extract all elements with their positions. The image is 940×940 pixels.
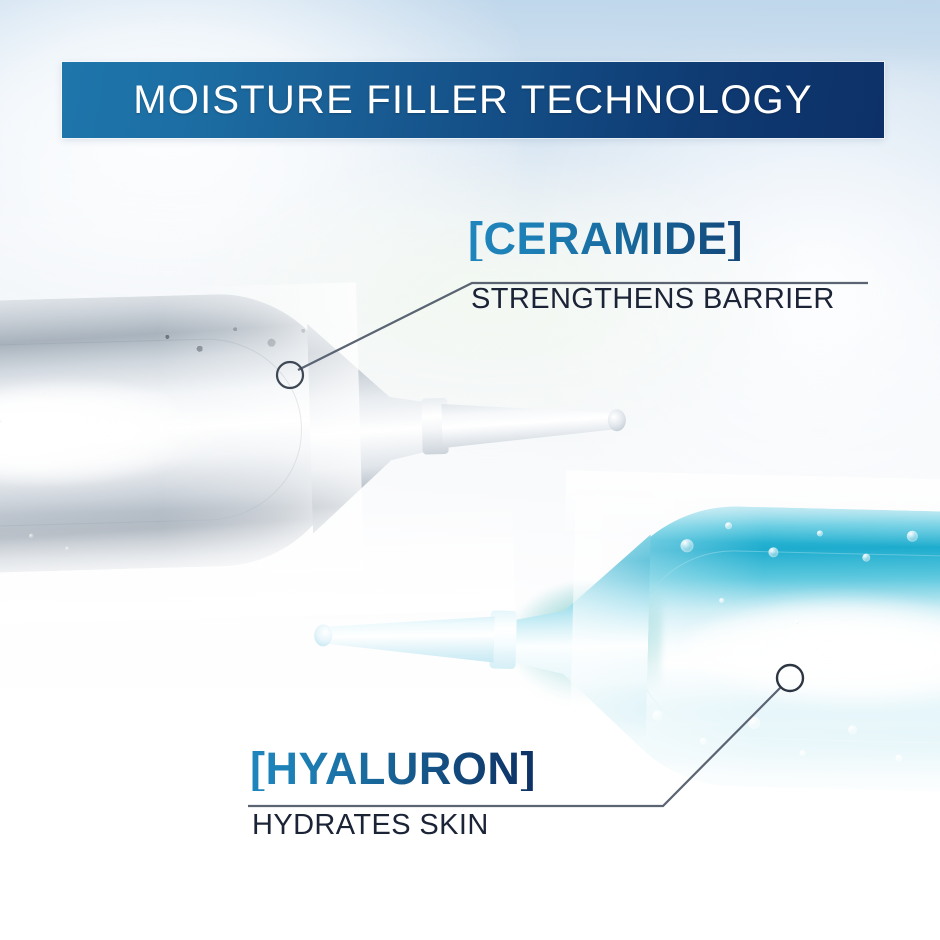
hyaluron-tag-label: [HYALURON] (250, 746, 536, 791)
clear-ampoule-neck (441, 397, 620, 450)
hyaluron-description: HYDRATES SKIN (252, 809, 536, 842)
callout-ceramide: [CERAMIDE] STRENGTHENS BARRIER (468, 216, 835, 316)
clear-ampoule-tip (608, 409, 627, 431)
promo-image-canvas: MOISTURE FILLER TECHNOLOGY [CERAMIDE] ST… (0, 0, 940, 940)
ceramide-description: STRENGTHENS BARRIER (471, 283, 835, 316)
callout-hyaluron: [HYALURON] HYDRATES SKIN (250, 746, 536, 842)
header-banner: MOISTURE FILLER TECHNOLOGY (62, 62, 884, 138)
ceramide-tag-label: [CERAMIDE] (468, 216, 835, 261)
banner-title: MOISTURE FILLER TECHNOLOGY (133, 78, 812, 123)
